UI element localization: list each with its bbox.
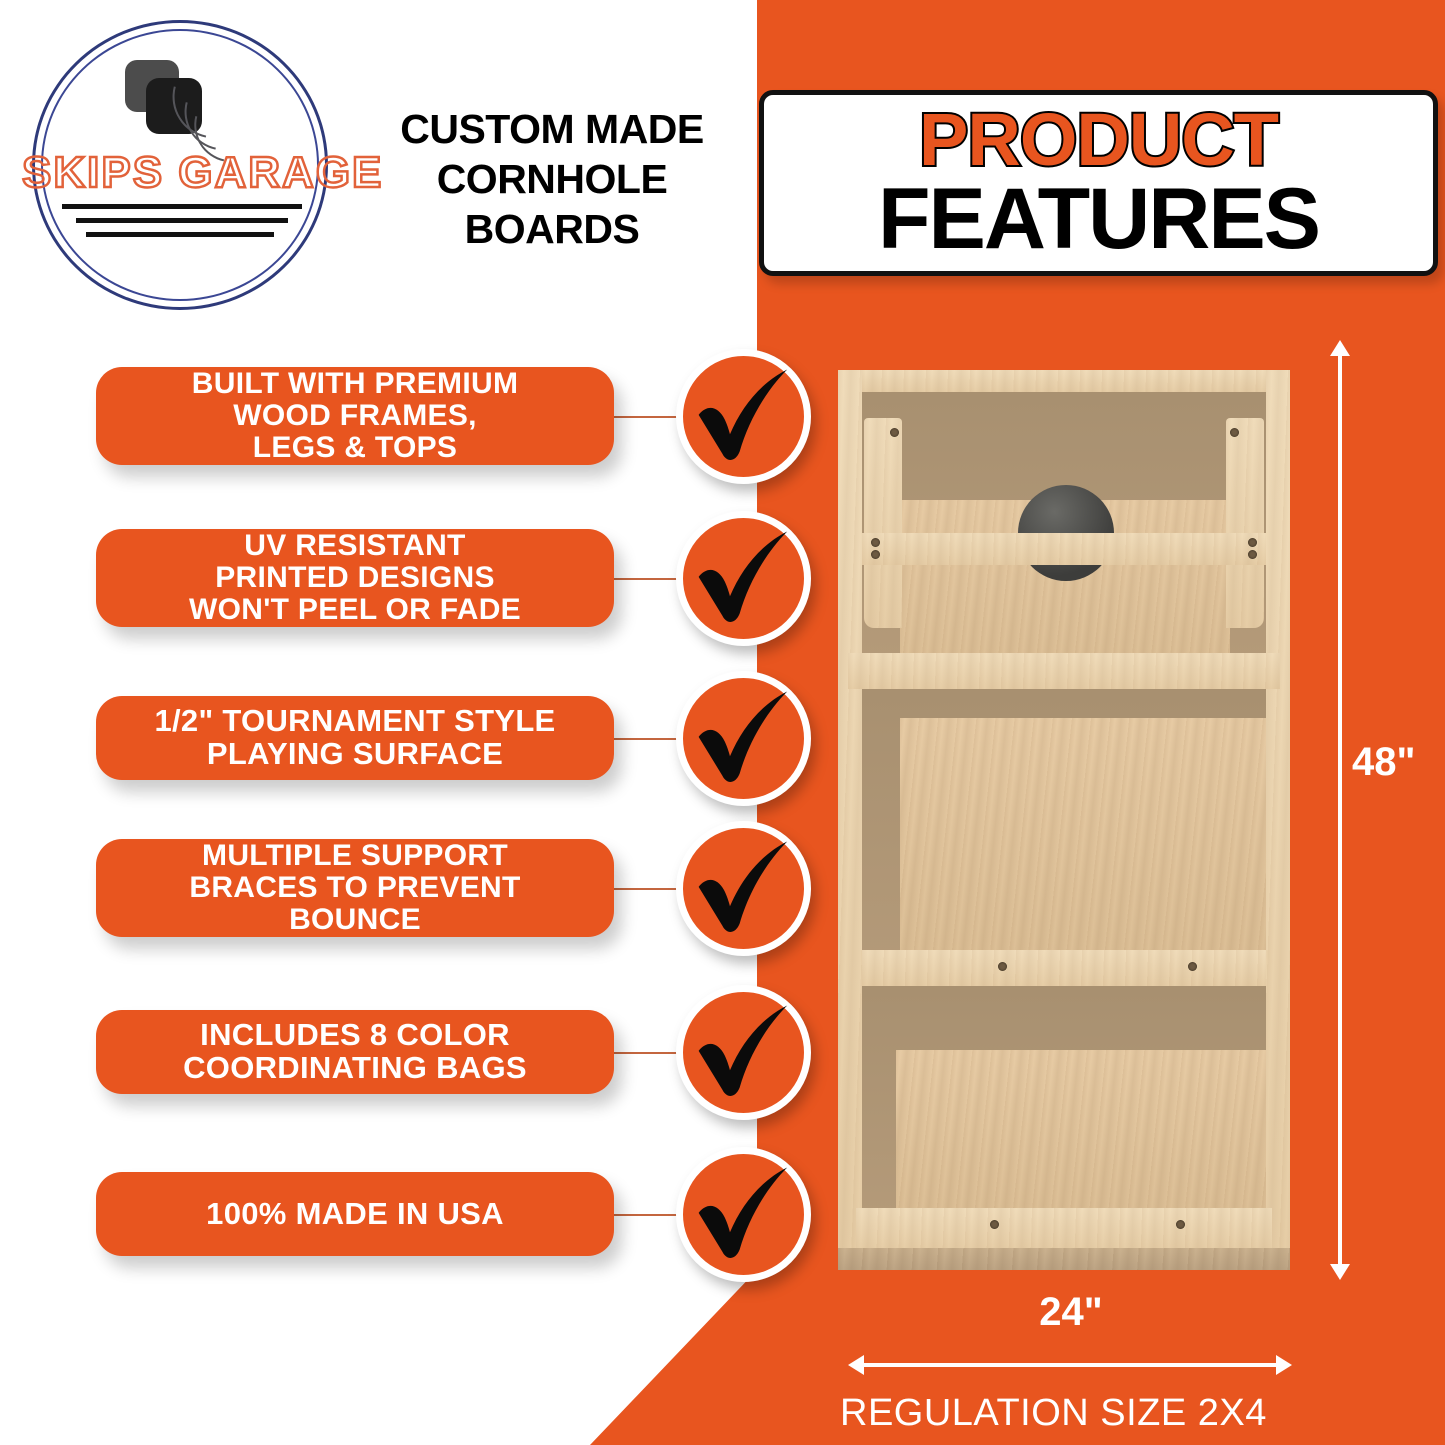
support-brace-upper xyxy=(862,533,1266,565)
feature-pill-4[interactable]: MULTIPLE SUPPORT BRACES TO PREVENT BOUNC… xyxy=(96,839,614,937)
feature-pill-3[interactable]: 1/2" TOURNAMENT STYLE PLAYING SURFACE xyxy=(96,696,614,780)
feature-2-line-2: PRINTED DESIGNS xyxy=(189,562,521,594)
page-title: CUSTOM MADE CORNHOLE BOARDS xyxy=(352,104,752,254)
board-bottom-edge xyxy=(838,1248,1290,1270)
width-dimension-label: 24" xyxy=(862,1290,1280,1335)
check-glyph xyxy=(690,685,798,793)
width-arrow-right-icon xyxy=(1276,1355,1292,1375)
bottom-rail-screw xyxy=(990,1220,999,1229)
logo-wordmark: SKIPS GARAGE xyxy=(22,148,342,198)
height-dimension-line xyxy=(1338,350,1342,1268)
support-brace-middle-top xyxy=(848,653,1280,689)
feature-pill-5[interactable]: INCLUDES 8 COLOR COORDINATING BAGS xyxy=(96,1010,614,1094)
feature-6-line-1: 100% MADE IN USA xyxy=(206,1198,504,1231)
board-leg-right xyxy=(1226,418,1264,628)
feature-1-line-2: WOOD FRAMES, xyxy=(192,400,518,432)
checkmark-icon-1 xyxy=(676,349,811,484)
board-lower-deck xyxy=(896,1050,1266,1210)
product-features-header: PRODUCT FEATURES xyxy=(759,90,1438,276)
checkmark-icon-5 xyxy=(676,985,811,1120)
support-brace-middle-bottom xyxy=(862,950,1266,986)
page-title-line-3: BOARDS xyxy=(352,204,752,254)
feature-3-line-1: 1/2" TOURNAMENT STYLE xyxy=(154,705,555,738)
brace-screw xyxy=(871,550,880,559)
checkmark-icon-4 xyxy=(676,821,811,956)
cornhole-board-underside-photo xyxy=(838,370,1290,1270)
checkmark-icon-2 xyxy=(676,511,811,646)
height-arrow-bottom-icon xyxy=(1330,1264,1350,1280)
check-glyph xyxy=(690,1161,798,1269)
feature-5-line-1: INCLUDES 8 COLOR xyxy=(183,1019,527,1052)
logo-rule-1 xyxy=(62,204,302,209)
feature-4-line-1: MULTIPLE SUPPORT xyxy=(189,840,520,872)
brace-screw xyxy=(1188,962,1197,971)
height-dimension-label: 48" xyxy=(1352,740,1415,785)
brace-screw xyxy=(1248,538,1257,547)
brace-screw xyxy=(1248,550,1257,559)
brace-screw xyxy=(871,538,880,547)
page-title-line-1: CUSTOM MADE xyxy=(352,104,752,154)
feature-1-line-1: BUILT WITH PREMIUM xyxy=(192,368,518,400)
check-glyph xyxy=(690,835,798,943)
logo-rule-3 xyxy=(86,232,274,237)
check-glyph xyxy=(690,999,798,1107)
feature-1-line-3: LEGS & TOPS xyxy=(192,432,518,464)
board-right-rail xyxy=(1266,370,1290,1270)
feature-3-line-2: PLAYING SURFACE xyxy=(154,738,555,771)
feature-2-line-1: UV RESISTANT xyxy=(189,530,521,562)
brace-screw xyxy=(998,962,1007,971)
checkmark-icon-3 xyxy=(676,671,811,806)
feature-5-line-2: COORDINATING BAGS xyxy=(183,1052,527,1085)
logo-rule-2 xyxy=(76,218,288,223)
board-bottom-rail xyxy=(856,1208,1272,1250)
board-top-rail xyxy=(838,370,1290,392)
board-leg-left xyxy=(864,418,902,628)
feature-4-line-3: BOUNCE xyxy=(189,904,520,936)
checkmark-icon-6 xyxy=(676,1147,811,1282)
width-arrow-left-icon xyxy=(848,1355,864,1375)
feature-pill-2[interactable]: UV RESISTANT PRINTED DESIGNS WON'T PEEL … xyxy=(96,529,614,627)
brand-logo[interactable]: SKIPS GARAGE xyxy=(22,12,342,312)
product-word: PRODUCT xyxy=(919,105,1278,175)
feature-pill-6[interactable]: 100% MADE IN USA xyxy=(96,1172,614,1256)
check-glyph xyxy=(690,525,798,633)
width-dimension-line xyxy=(862,1363,1280,1367)
feature-2-line-3: WON'T PEEL OR FADE xyxy=(189,594,521,626)
check-glyph xyxy=(690,363,798,471)
feature-4-line-2: BRACES TO PREVENT xyxy=(189,872,520,904)
board-left-rail xyxy=(838,370,862,1270)
board-middle-deck xyxy=(900,718,1266,950)
height-arrow-top-icon xyxy=(1330,340,1350,356)
page-title-line-2: CORNHOLE xyxy=(352,154,752,204)
feature-pill-1[interactable]: BUILT WITH PREMIUM WOOD FRAMES, LEGS & T… xyxy=(96,367,614,465)
features-word: FEATURES xyxy=(878,177,1319,261)
regulation-size-label: REGULATION SIZE 2X4 xyxy=(840,1392,1320,1435)
bottom-rail-screw xyxy=(1176,1220,1185,1229)
leg-bolt-right xyxy=(1230,428,1239,437)
leg-bolt-left xyxy=(890,428,899,437)
